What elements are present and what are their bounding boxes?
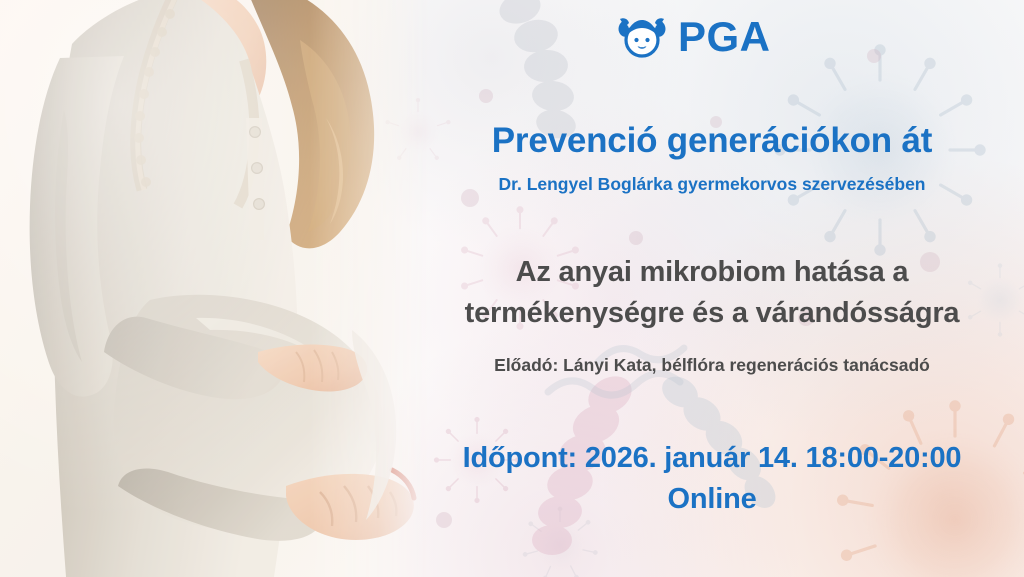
- poster-datetime: Időpont: 2026. január 14. 18:00-20:00 On…: [400, 438, 1024, 520]
- poster-speaker: Előadó: Lányi Kata, bélflóra regeneráció…: [400, 355, 1024, 376]
- poster-canvas: PGA Prevenció generációkon át Dr. Lengye…: [0, 0, 1024, 577]
- pregnant-woman-photo: [0, 0, 430, 577]
- poster-datetime-line-2: Online: [400, 479, 1024, 520]
- poster-datetime-line-1: Időpont: 2026. január 14. 18:00-20:00: [400, 438, 1024, 479]
- poster-text-content: Prevenció generációkon át Dr. Lengyel Bo…: [400, 0, 1024, 577]
- poster-topic-line-1: Az anyai mikrobiom hatása a: [400, 252, 1024, 293]
- poster-topic: Az anyai mikrobiom hatása a termékenység…: [400, 252, 1024, 334]
- poster-organizer: Dr. Lengyel Boglárka gyermekorvos szerve…: [400, 174, 1024, 195]
- poster-title: Prevenció generációkon át: [400, 122, 1024, 161]
- poster-topic-line-2: termékenységre és a várandósságra: [400, 293, 1024, 334]
